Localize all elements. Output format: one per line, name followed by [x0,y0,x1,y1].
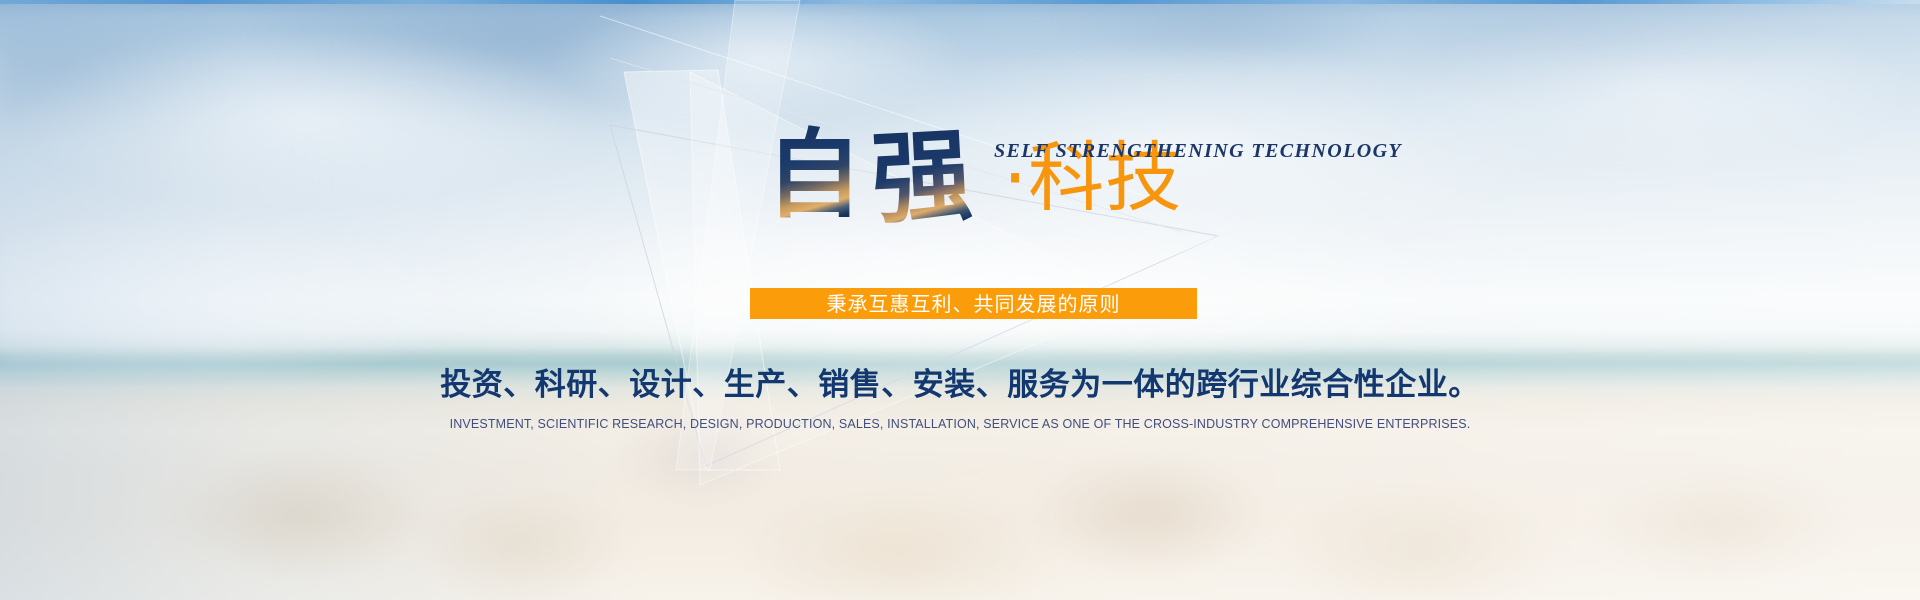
calligraphy-char-zi: 自 [766,122,862,231]
calligraphy-char-qiang: 强 [869,122,975,232]
slogan-bar: 秉承互惠互利、共同发展的原则 [750,288,1197,319]
brand-calligraphy-ziqiang: 自 强 [762,122,1002,232]
banner-content: 自 强 ·科技 SELF STRENGTHENING TECHNOLOGY 秉承… [0,0,1920,600]
calligraphy-svg: 自 强 [762,122,1002,232]
hero-banner: 自 强 ·科技 SELF STRENGTHENING TECHNOLOGY 秉承… [0,0,1920,600]
slogan-bar-text: 秉承互惠互利、共同发展的原则 [827,294,1121,314]
headline-chinese: 投资、科研、设计、生产、销售、安装、服务为一体的跨行业综合性企业。 [0,366,1920,405]
subheadline-english: INVESTMENT, SCIENTIFIC RESEARCH, DESIGN,… [0,416,1920,432]
brand-tagline-english: SELF STRENGTHENING TECHNOLOGY [994,141,1402,161]
